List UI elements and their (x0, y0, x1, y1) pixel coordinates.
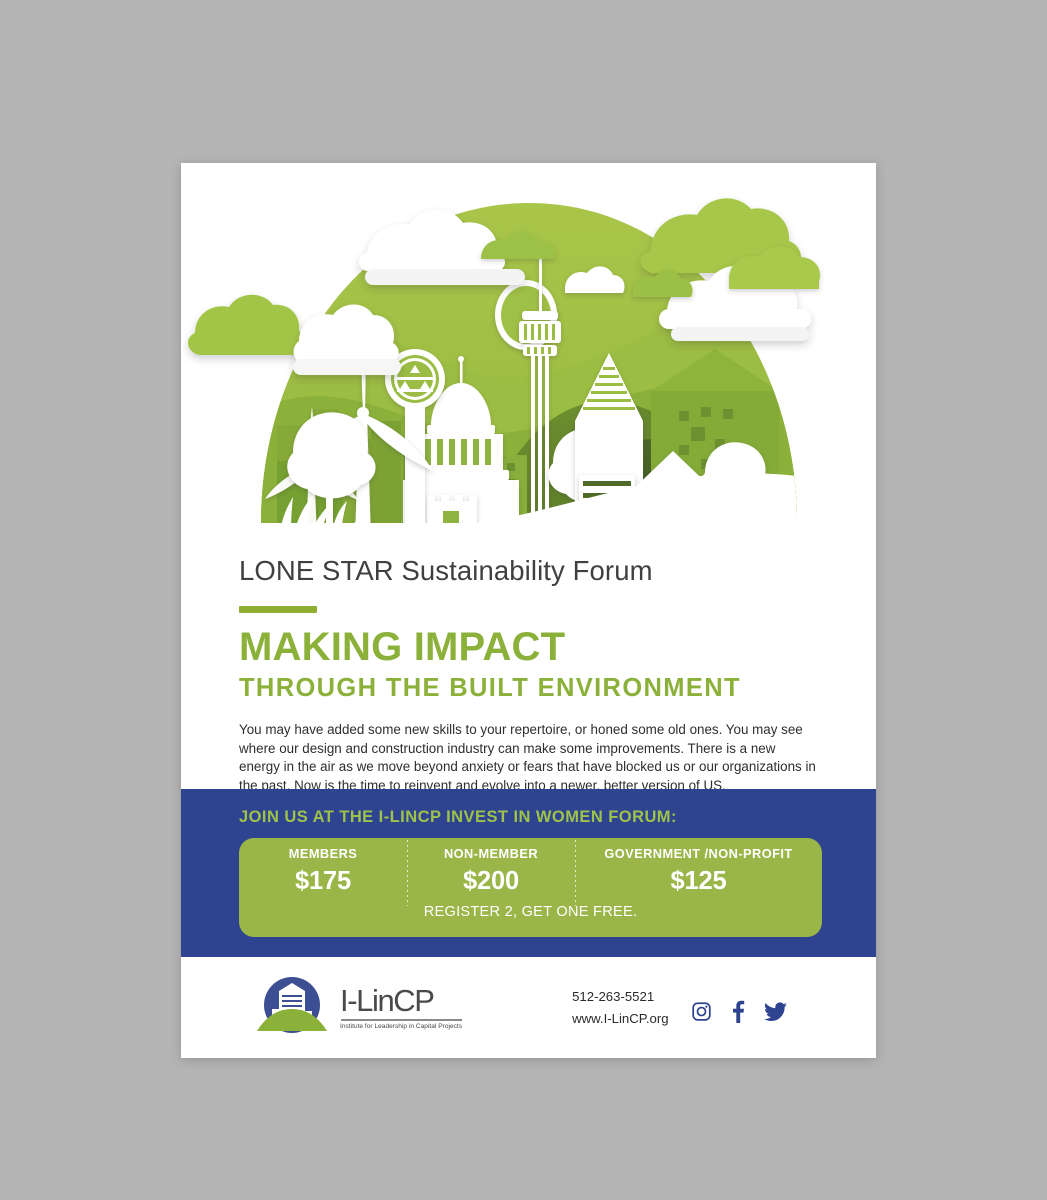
tier-label: MEMBERS (289, 846, 358, 861)
promo-text: REGISTER 2, GET ONE FREE. (239, 904, 822, 920)
logo-wordmark: I-LinCP (340, 985, 462, 1016)
instagram-icon[interactable] (691, 1001, 712, 1022)
social-links (691, 1000, 787, 1023)
title-rule (239, 606, 317, 613)
twitter-icon[interactable] (764, 1002, 787, 1022)
tier-label: GOVERNMENT /NON-PROFIT (604, 846, 792, 861)
screenshot-stage: LONE STAR Sustainability Forum MAKING IM… (0, 0, 1047, 1200)
headline-main: MAKING IMPACT (239, 626, 818, 668)
sustainable-city-artwork (181, 163, 876, 551)
ilincp-building-logo-icon (253, 975, 331, 1041)
headline-block: LONE STAR Sustainability Forum MAKING IM… (181, 551, 876, 796)
headline-sub: THROUGH THE BUILT ENVIRONMENT (239, 674, 818, 702)
facebook-icon[interactable] (731, 1000, 745, 1023)
phone-number[interactable]: 512-263-5521 (572, 986, 669, 1007)
tier-price: $175 (295, 867, 351, 896)
footer: I-LinCP Institute for Leadership in Capi… (181, 957, 876, 1058)
contact-lines: 512-263-5521 www.I-LinCP.org (572, 986, 669, 1029)
tier-label: NON-MEMBER (444, 846, 538, 861)
tier-price: $125 (671, 867, 727, 896)
pricing-band-title: JOIN US AT THE I-LINCP INVEST IN WOMEN F… (181, 789, 876, 827)
website-url[interactable]: www.I-LinCP.org (572, 1008, 669, 1029)
hero-illustration (181, 163, 876, 551)
pricing-band: JOIN US AT THE I-LINCP INVEST IN WOMEN F… (181, 789, 876, 957)
pricing-card: MEMBERS $175 NON-MEMBER $200 GOVERNMENT … (239, 838, 822, 937)
page-title: LONE STAR Sustainability Forum (239, 551, 818, 587)
ilincp-logo[interactable]: I-LinCP Institute for Leadership in Capi… (253, 975, 462, 1041)
pricing-tier-government-non-profit[interactable]: GOVERNMENT /NON-PROFIT $125 (575, 838, 822, 900)
logo-tagline: Institute for Leadership in Capital Proj… (340, 1023, 462, 1030)
body-copy: You may have added some new skills to yo… (239, 721, 818, 796)
logo-divider (341, 1019, 462, 1021)
pricing-columns: MEMBERS $175 NON-MEMBER $200 GOVERNMENT … (239, 838, 822, 900)
flyer-page: LONE STAR Sustainability Forum MAKING IM… (181, 163, 876, 1058)
tier-price: $200 (463, 867, 519, 896)
pricing-tier-non-member[interactable]: NON-MEMBER $200 (407, 838, 575, 900)
contact-block: 512-263-5521 www.I-LinCP.org (572, 986, 787, 1029)
pricing-tier-members[interactable]: MEMBERS $175 (239, 838, 407, 900)
